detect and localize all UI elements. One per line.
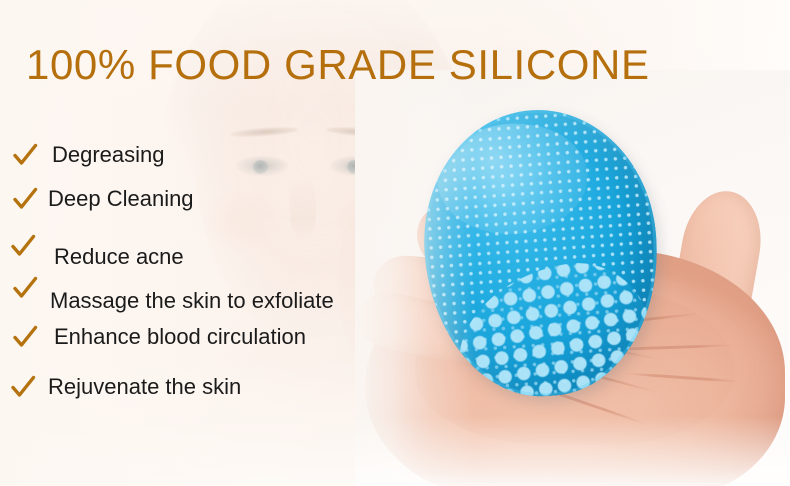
check-icon bbox=[10, 322, 40, 352]
check-icon bbox=[8, 231, 38, 261]
list-item-label: Massage the skin to exfoliate bbox=[50, 288, 334, 314]
check-icon bbox=[8, 372, 38, 402]
check-icon bbox=[10, 184, 40, 214]
list-item-label: Enhance blood circulation bbox=[54, 324, 306, 350]
list-item: Massage the skin to exfoliate bbox=[10, 262, 334, 314]
list-item-label: Degreasing bbox=[52, 142, 165, 168]
product-promo-banner: 100% FOOD GRADE SILICONE Degreasing Deep… bbox=[0, 0, 790, 486]
list-item-label: Rejuvenate the skin bbox=[48, 374, 241, 400]
list-item-label: Deep Cleaning bbox=[48, 186, 194, 212]
list-item: Deep Cleaning bbox=[10, 184, 194, 214]
silicone-cleansing-pad bbox=[415, 102, 666, 403]
check-icon bbox=[10, 140, 40, 170]
page-title: 100% FOOD GRADE SILICONE bbox=[26, 40, 650, 90]
list-item: Enhance blood circulation bbox=[10, 322, 306, 352]
check-icon bbox=[10, 273, 40, 303]
list-item: Degreasing bbox=[10, 140, 165, 170]
list-item: Rejuvenate the skin bbox=[8, 372, 241, 402]
product-photo bbox=[355, 70, 790, 486]
